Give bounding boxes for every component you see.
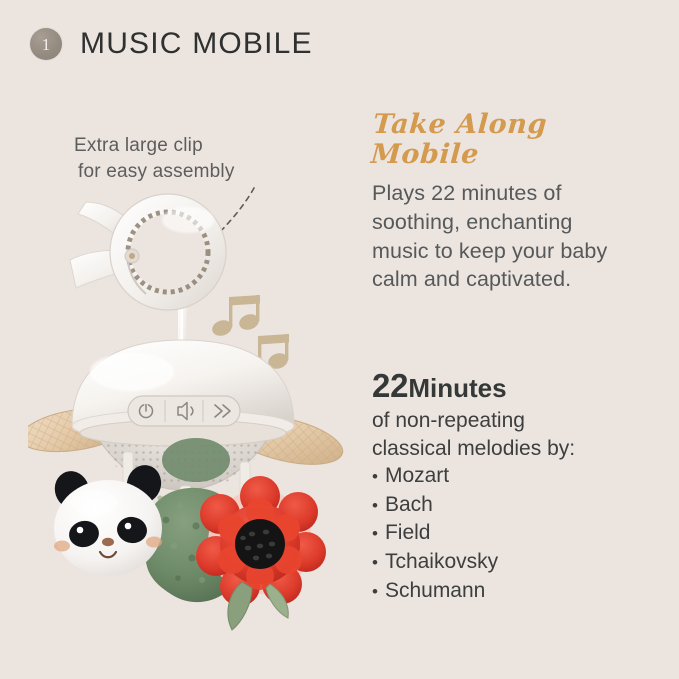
composer-name: Schumann <box>385 577 485 606</box>
list-item: • Mozart <box>372 462 667 491</box>
composer-list: • Mozart • Bach • Field • Tchaikovsky • … <box>372 462 667 605</box>
clip-annotation-line1: Extra large clip <box>74 133 235 159</box>
script-heading: Take Along Mobile <box>370 110 664 169</box>
feature-body-line-2: music to keep your baby <box>372 237 662 266</box>
white-speaker-dome <box>72 340 294 446</box>
composer-name: Mozart <box>385 462 449 491</box>
control-panel[interactable] <box>128 396 240 426</box>
list-item: • Field <box>372 519 667 548</box>
clip-annotation: Extra large clip for easy assembly <box>74 133 235 185</box>
list-item: • Bach <box>372 491 667 520</box>
list-item: • Tchaikovsky <box>372 548 667 577</box>
list-item: • Schumann <box>372 577 667 606</box>
page-header: 1 MUSIC MOBILE <box>30 27 313 61</box>
feature-body-line-0: Plays 22 minutes of <box>372 179 662 208</box>
melodies-block: 22Minutes of non-repeating classical mel… <box>372 368 667 605</box>
feature-body-line-1: soothing, enchanting <box>372 208 662 237</box>
composer-name: Field <box>385 519 431 548</box>
take-along-block: Take Along Mobile Plays 22 minutes of so… <box>372 110 662 294</box>
bullet-icon: • <box>372 468 378 485</box>
infographic-page: 1 MUSIC MOBILE Extra large clip for easy… <box>0 0 679 679</box>
bullet-icon: • <box>372 583 378 600</box>
product-illustration <box>28 190 358 660</box>
red-poppy-flower-toy <box>196 476 326 630</box>
clip-annotation-line2: for easy assembly <box>74 159 235 185</box>
panda-plush-toy <box>50 461 165 576</box>
page-title: MUSIC MOBILE <box>80 27 313 61</box>
melodies-line-0: of non-repeating <box>372 407 667 435</box>
composer-name: Tchaikovsky <box>385 548 498 577</box>
bullet-icon: • <box>372 554 378 571</box>
melodies-line-1: classical melodies by: <box>372 435 667 463</box>
bullet-icon: • <box>372 525 378 542</box>
bullet-icon: • <box>372 497 378 514</box>
minutes-heading: 22Minutes <box>372 368 667 405</box>
extra-large-clip <box>70 194 226 310</box>
composer-name: Bach <box>385 491 433 520</box>
minutes-unit: Minutes <box>408 373 506 403</box>
step-number: 1 <box>42 36 51 53</box>
feature-body-line-3: calm and captivated. <box>372 265 662 294</box>
minutes-count: 22 <box>372 367 408 404</box>
step-number-badge: 1 <box>30 28 62 60</box>
